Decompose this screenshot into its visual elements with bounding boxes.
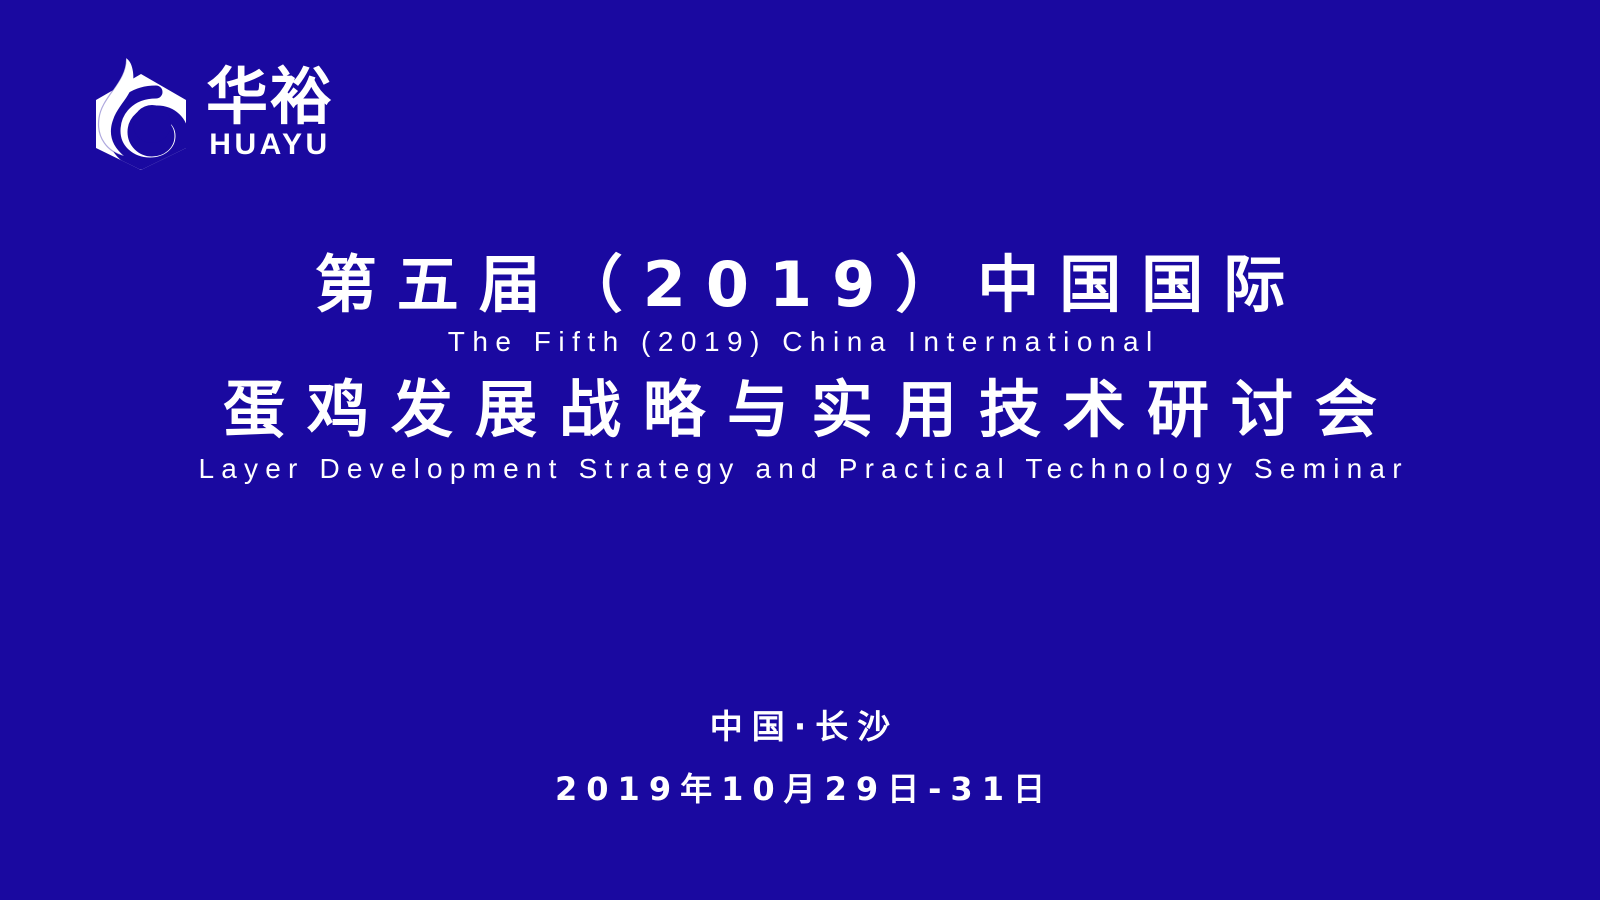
huayu-hexagon-swirl-icon xyxy=(86,52,190,170)
conference-banner: 华裕 HUAYU 第五届（2019）中国国际 The Fifth (2019) … xyxy=(0,0,1600,900)
brand-logo: 华裕 HUAYU xyxy=(86,52,334,170)
title-line1-en: The Fifth (2019) China International xyxy=(0,323,1600,361)
venue-text: 中国·长沙 xyxy=(0,706,1600,747)
footer-block: 中国·长沙 2019年10月29日-31日 xyxy=(0,706,1600,809)
logo-name-en: HUAYU xyxy=(209,129,330,161)
dates-text: 2019年10月29日-31日 xyxy=(0,769,1600,809)
title-line1-cn: 第五届（2019）中国国际 xyxy=(0,248,1600,321)
title-line2-cn: 蛋鸡发展战略与实用技术研讨会 xyxy=(0,373,1600,446)
logo-name-cn: 华裕 xyxy=(206,68,334,127)
title-line2-en: Layer Development Strategy and Practical… xyxy=(0,450,1600,488)
logo-wordmark: 华裕 HUAYU xyxy=(206,62,334,160)
title-block: 第五届（2019）中国国际 The Fifth (2019) China Int… xyxy=(0,248,1600,488)
